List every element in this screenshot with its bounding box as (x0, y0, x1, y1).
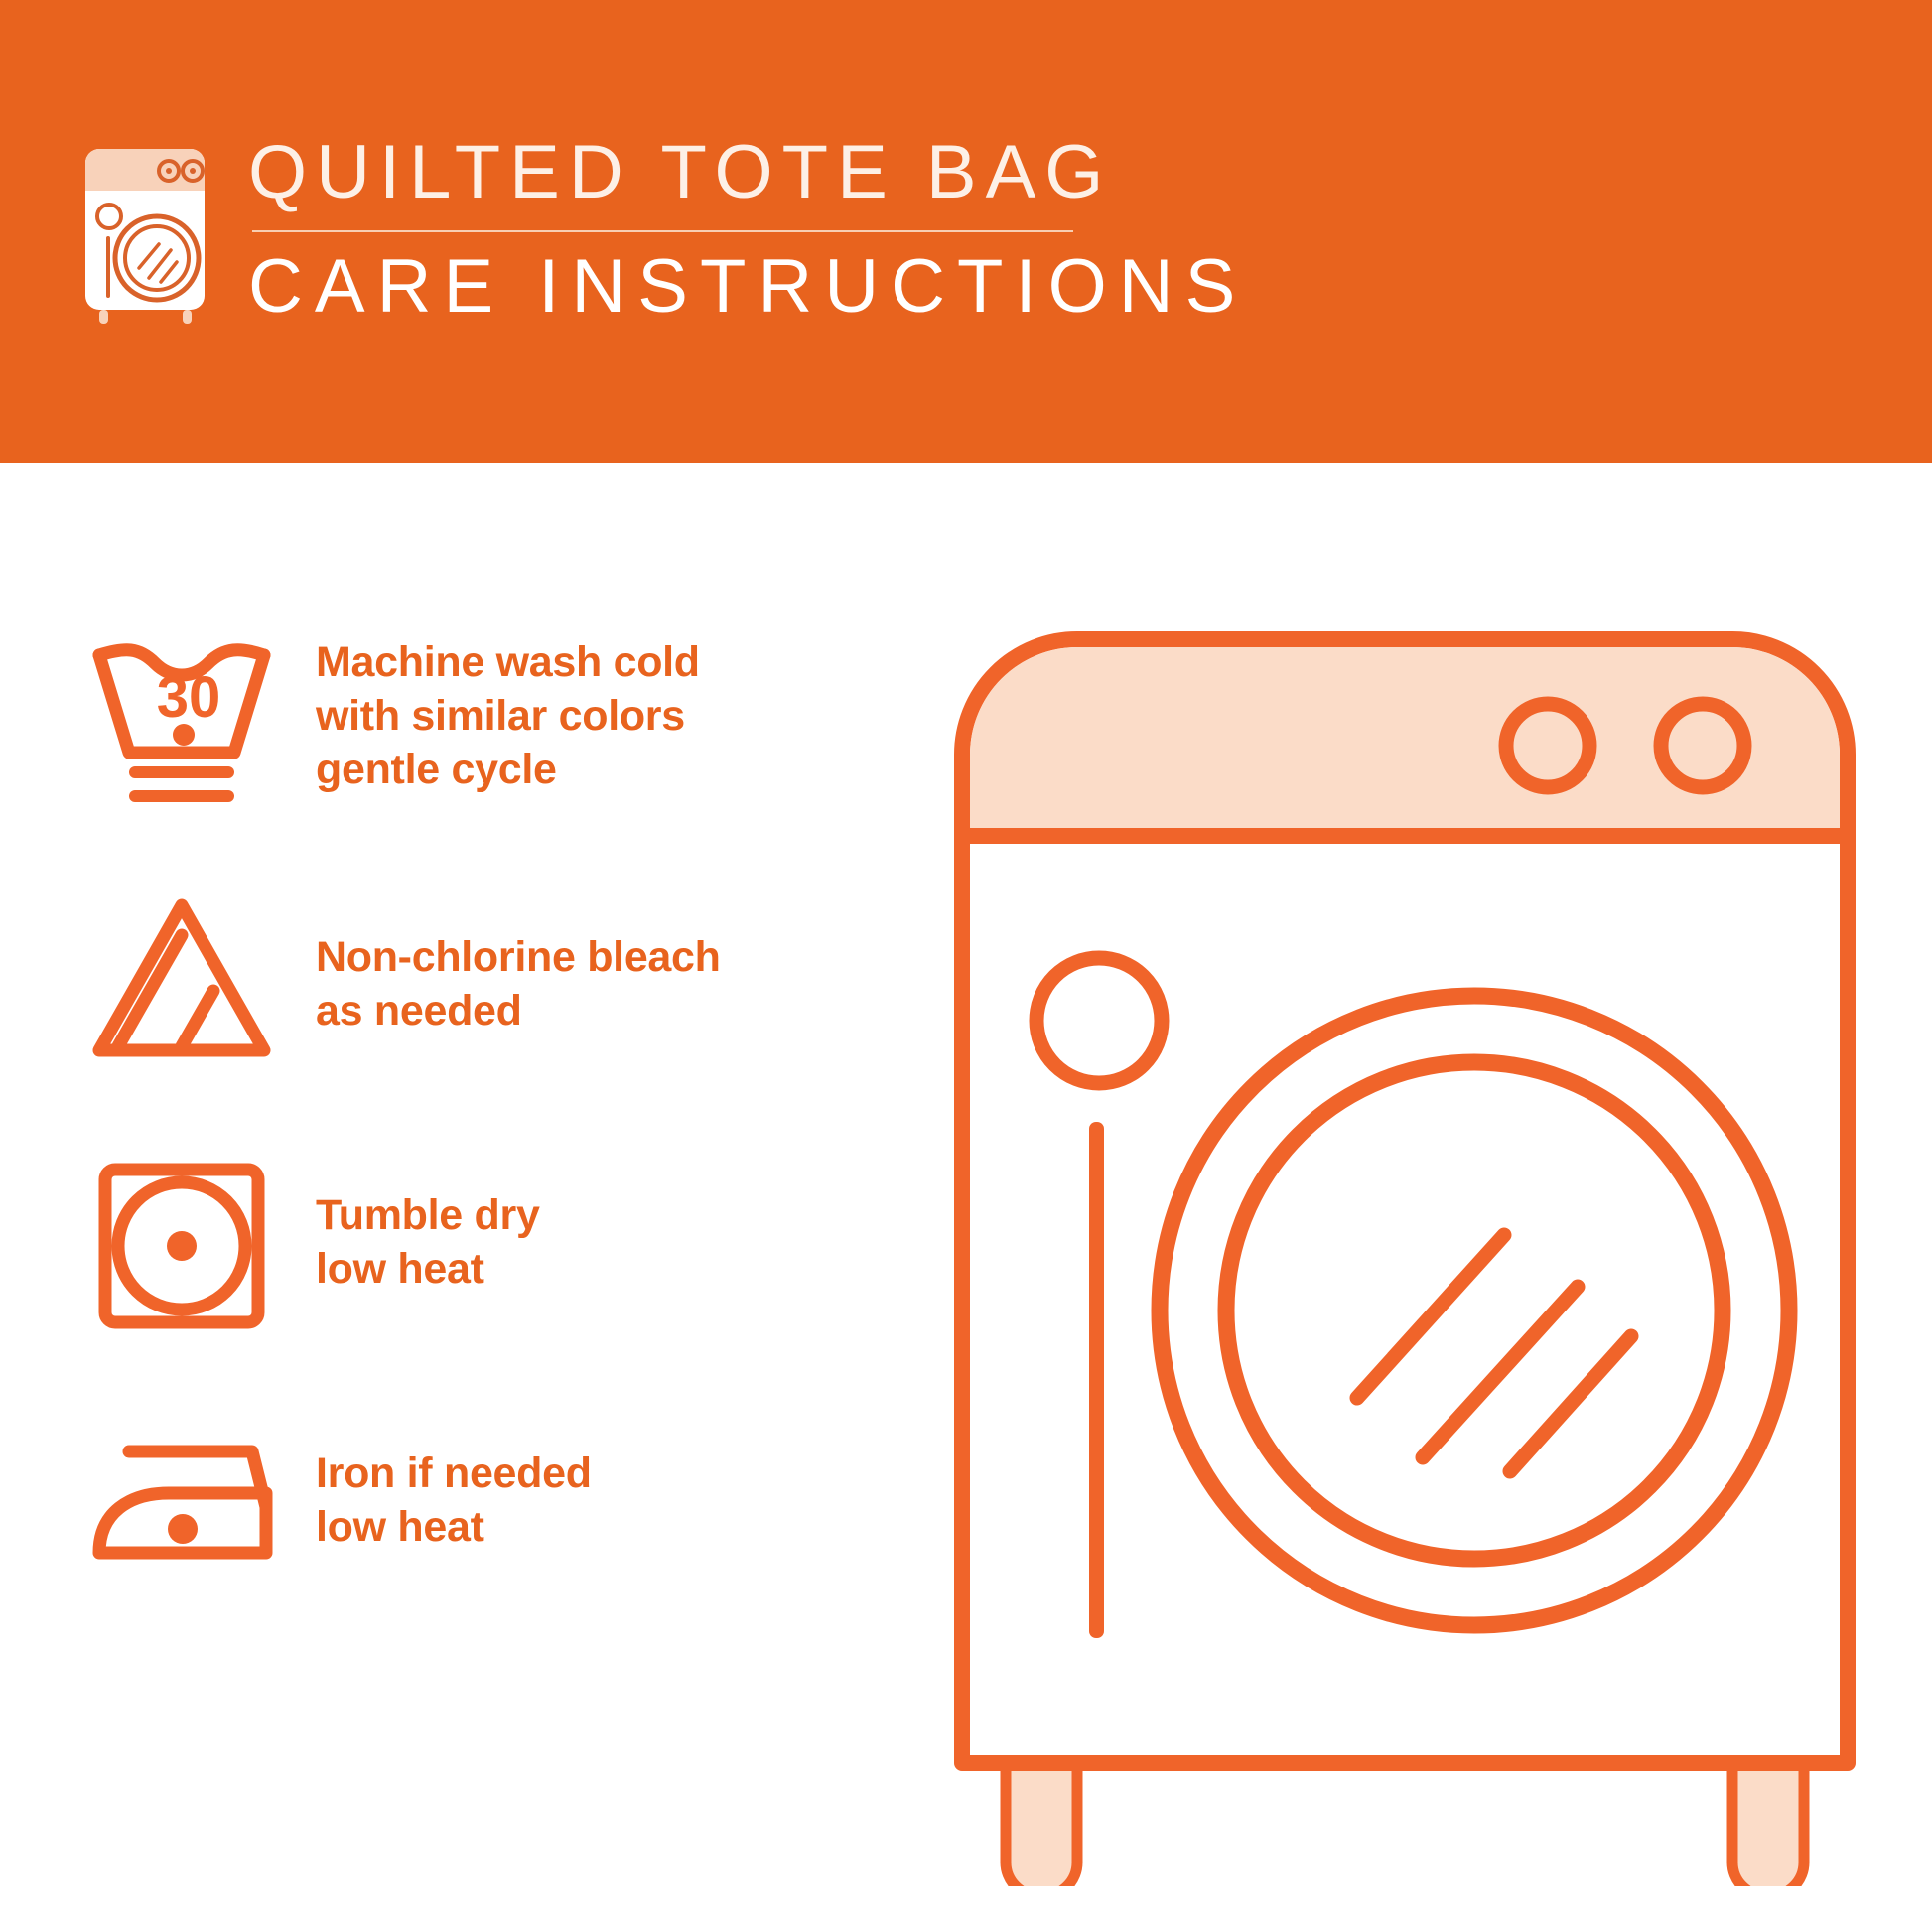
tumble-dry-low-icon (77, 1138, 286, 1346)
vertical-bar (1089, 1122, 1104, 1638)
care-label-line: with similar colors (316, 689, 700, 743)
care-label: Non-chlorine bleach as needed (316, 930, 721, 1037)
header-content: QUILTED TOTE BAG CARE INSTRUCTIONS (77, 129, 1247, 332)
care-label-line: gentle cycle (316, 743, 700, 796)
care-label: Machine wash cold with similar colors ge… (316, 635, 700, 796)
iron-low-heat-icon (77, 1396, 286, 1604)
care-label-line: Iron if needed (316, 1447, 592, 1500)
care-label-line: Machine wash cold (316, 635, 700, 689)
page-subtitle: CARE INSTRUCTIONS (248, 242, 1247, 332)
care-label-line: low heat (316, 1500, 592, 1554)
page-title: QUILTED TOTE BAG (248, 129, 1247, 216)
care-instructions-page: QUILTED TOTE BAG CARE INSTRUCTIONS 30 (0, 0, 1932, 1932)
care-row: 30 Machine wash cold with similar colors… (77, 612, 872, 820)
care-label-line: as needed (316, 984, 721, 1037)
title-divider (252, 230, 1073, 232)
care-instruction-list: 30 Machine wash cold with similar colors… (0, 463, 894, 1932)
knob-left[interactable] (1506, 704, 1589, 787)
washing-machine-illustration (948, 625, 1862, 1886)
care-label: Iron if needed low heat (316, 1447, 592, 1554)
care-label-line: Tumble dry (316, 1188, 540, 1242)
wash-temperature-label: 30 (157, 665, 221, 730)
care-label: Tumble dry low heat (316, 1188, 540, 1296)
care-label-line: low heat (316, 1242, 540, 1296)
care-label-line: Non-chlorine bleach (316, 930, 721, 984)
door-inner-ring (1226, 1062, 1723, 1559)
header-banner: QUILTED TOTE BAG CARE INSTRUCTIONS (0, 0, 1932, 463)
washing-machine-icon (77, 141, 212, 326)
knob-right[interactable] (1661, 704, 1744, 787)
care-row: Tumble dry low heat (77, 1138, 872, 1346)
machine-wash-30-gentle-icon: 30 (77, 612, 286, 820)
header-titles: QUILTED TOTE BAG CARE INSTRUCTIONS (248, 129, 1247, 332)
care-row: Non-chlorine bleach as needed (77, 880, 872, 1088)
care-row: Iron if needed low heat (77, 1396, 872, 1604)
non-chlorine-bleach-triangle-icon (77, 880, 286, 1088)
